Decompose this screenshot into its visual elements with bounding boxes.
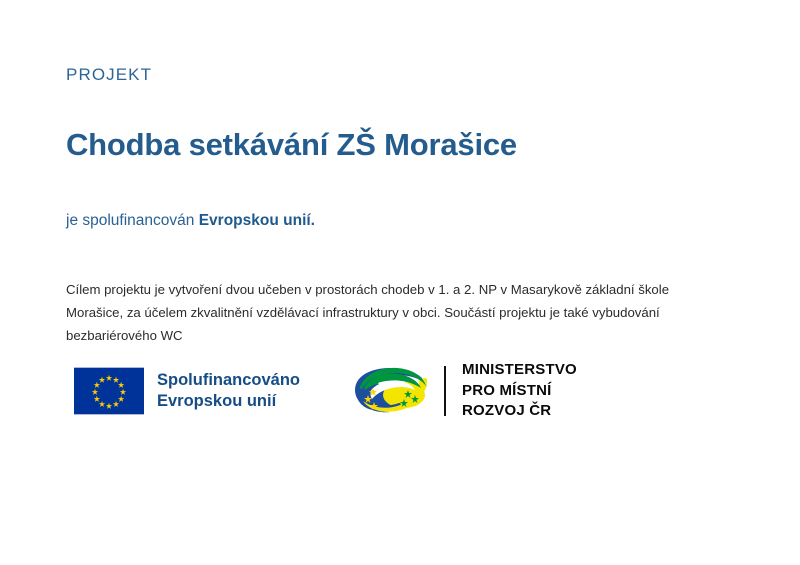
eu-flag-icon: [74, 367, 144, 415]
ministry-logo-text-line3: ROZVOJ ČR: [462, 401, 577, 422]
page-title: Chodba setkávání ZŠ Morašice: [66, 127, 726, 163]
eyebrow-label: PROJEKT: [66, 66, 726, 85]
eu-logo-text-line2: Evropskou unií: [157, 391, 300, 412]
eu-logo-text-line1: Spolufinancováno: [157, 370, 300, 391]
project-info-page: PROJEKT Chodba setkávání ZŠ Morašice je …: [0, 0, 800, 565]
ministry-logo-text: MINISTERSTVO PRO MÍSTNÍ ROZVOJ ČR: [462, 360, 577, 422]
content-block: PROJEKT Chodba setkávání ZŠ Morašice je …: [66, 66, 726, 348]
funding-statement: je spolufinancován Evropskou unií.: [66, 211, 726, 231]
ministry-logo-divider: [444, 366, 446, 416]
logo-strip: Spolufinancováno Evropskou unií: [74, 360, 577, 422]
ministry-logo-text-line2: PRO MÍSTNÍ: [462, 381, 577, 402]
funding-statement-emphasis: Evropskou unií.: [199, 212, 315, 229]
ministry-logo-mark-icon: [352, 364, 430, 418]
ministry-logo: MINISTERSTVO PRO MÍSTNÍ ROZVOJ ČR: [352, 360, 577, 422]
eu-cofunding-logo: Spolufinancováno Evropskou unií: [74, 367, 300, 415]
funding-statement-lead: je spolufinancován: [66, 212, 199, 229]
ministry-logo-text-line1: MINISTERSTVO: [462, 360, 577, 381]
eu-logo-text: Spolufinancováno Evropskou unií: [157, 370, 300, 412]
project-description: Cílem projektu je vytvoření dvou učeben …: [66, 279, 700, 347]
